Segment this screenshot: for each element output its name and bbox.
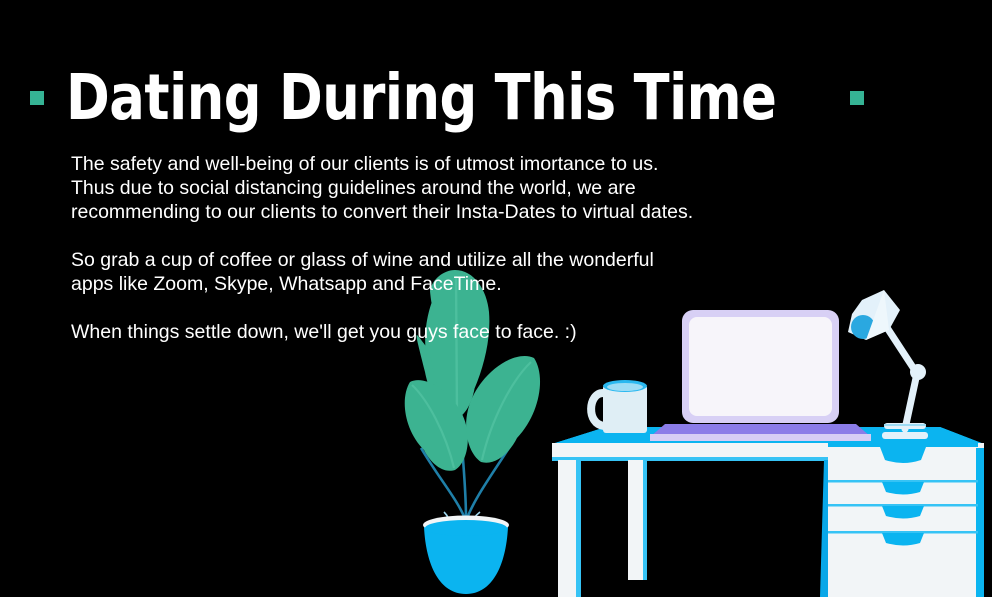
mug-handle [591, 393, 604, 426]
drawer-3 [828, 504, 978, 519]
desk-apron [552, 443, 984, 459]
laptop-base [650, 424, 871, 437]
body-paragraph-2: So grab a cup of coffee or glass of wine… [71, 248, 771, 296]
title-bullet-left-icon [30, 91, 44, 105]
lamp-bulb [851, 315, 875, 339]
title-bullet-right-icon [850, 91, 864, 105]
desk-right-panel [820, 460, 848, 597]
body-paragraph-3: When things settle down, we'll get you g… [71, 320, 771, 344]
lamp-shade [848, 290, 900, 340]
drawer-2 [828, 480, 978, 495]
desk-top-surface-back [552, 427, 984, 444]
plant-pot-body [424, 527, 508, 594]
mug-rim [603, 380, 647, 392]
drawer-4 [828, 531, 978, 546]
lamp-base-top [884, 423, 926, 429]
mug-body [603, 385, 647, 433]
desk-leg-inner [628, 460, 645, 580]
desk-leg-left [558, 460, 578, 597]
title-row: Dating During This Time [0, 58, 800, 138]
plant-pot-rim [423, 516, 509, 535]
plant-leaf-left [405, 380, 468, 471]
desk-lamp-graphic [848, 290, 928, 439]
body-paragraph-1: The safety and well-being of our clients… [71, 152, 771, 224]
desk-top-surface [552, 427, 984, 444]
coffee-mug-graphic [591, 380, 647, 433]
drawer-unit-body [828, 443, 984, 597]
slide-canvas: Dating During This Time The safety and w… [0, 0, 992, 597]
drawer-unit-graphic [828, 443, 984, 597]
plant-leaf-right [466, 356, 540, 463]
drawer-1 [828, 443, 978, 463]
page-title: Dating During This Time [66, 64, 776, 132]
desk-graphic [552, 427, 984, 597]
body-copy: The safety and well-being of our clients… [71, 152, 771, 344]
laptop-base-front [650, 434, 871, 441]
lamp-base-bottom [882, 432, 928, 439]
